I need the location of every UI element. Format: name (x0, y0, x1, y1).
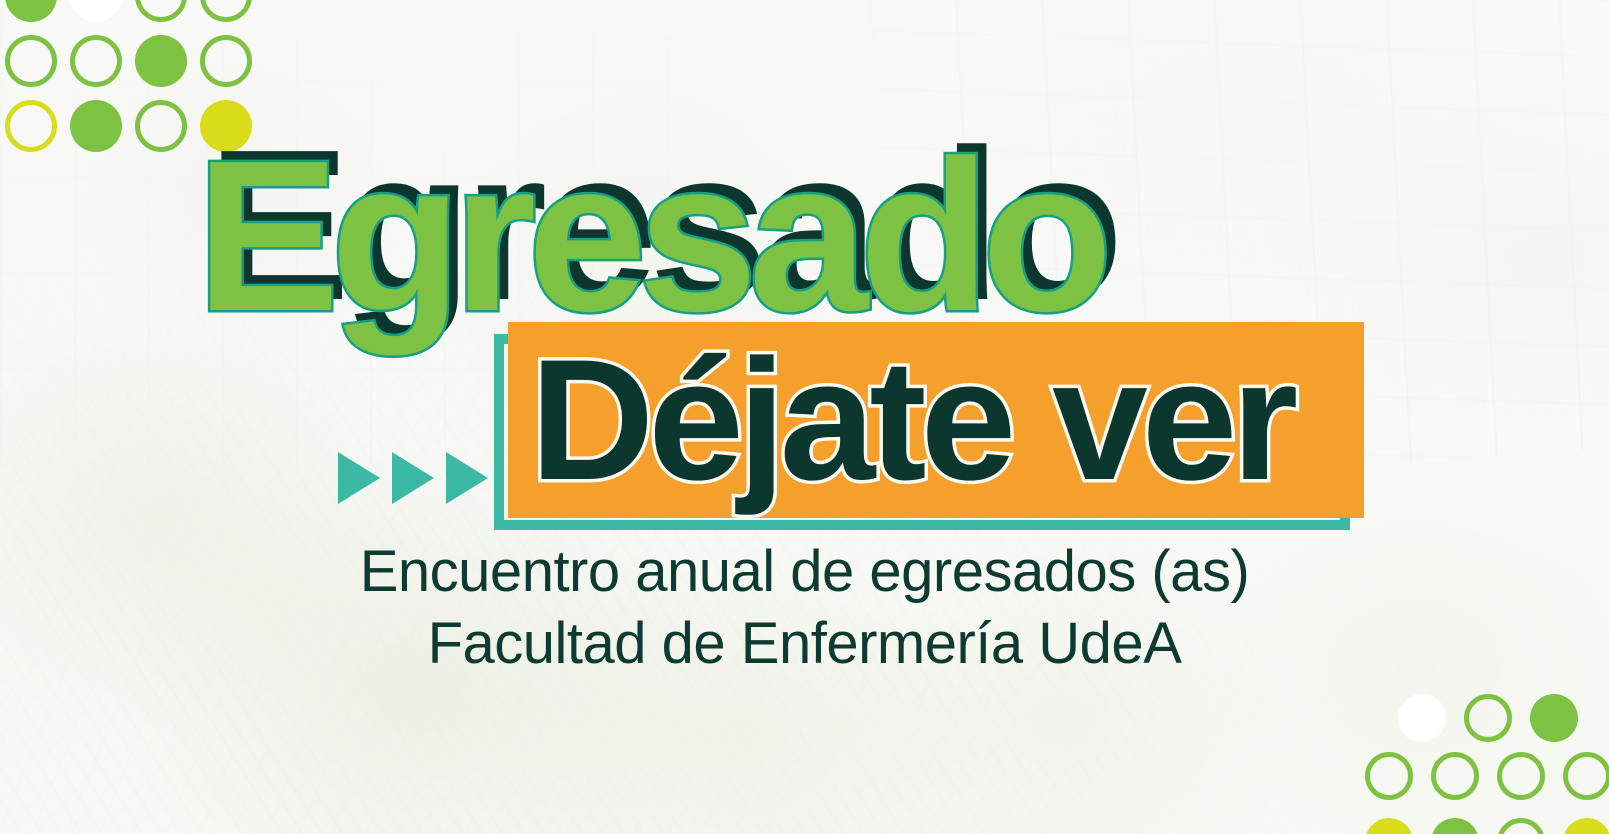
circle-outline-icon (1464, 694, 1512, 742)
circle-filled-icon (135, 35, 187, 87)
circle-outline-icon (1365, 752, 1413, 800)
circle-outline-icon (200, 35, 252, 87)
headline-dejate-ver-text: Déjate ver (530, 334, 1292, 506)
circle-filled-icon (1431, 818, 1479, 834)
triangle-right-icon (392, 452, 434, 504)
circle-outline-icon (1431, 752, 1479, 800)
subtitle-line-1: Encuentro anual de egresados (as) (0, 536, 1609, 608)
circle-filled-icon (1563, 818, 1609, 834)
circle-outline-icon (5, 35, 57, 87)
arrow-group (338, 452, 488, 504)
circle-outline-icon (1497, 752, 1545, 800)
triangle-right-icon (446, 452, 488, 504)
circle-outline-icon (1563, 752, 1609, 800)
circle-outline-icon (70, 35, 122, 87)
circle-outline-icon (200, 0, 252, 22)
triangle-right-icon (338, 452, 380, 504)
poster-canvas: Egresado Egresado Egresado Déjate ver En… (0, 0, 1609, 834)
subtitle-line-2: Facultad de Enfermería UdeA (0, 608, 1609, 680)
circle-filled-icon (70, 0, 122, 22)
circle-filled-icon (1530, 694, 1578, 742)
circle-outline-icon (1497, 818, 1545, 834)
circle-outline-icon (135, 100, 187, 152)
circle-outline-icon (135, 0, 187, 22)
circle-filled-icon (1398, 694, 1446, 742)
banner-text-wrap: Déjate ver (530, 320, 1410, 520)
circle-filled-icon (70, 100, 122, 152)
circle-grid-icon-bottom-right (1398, 694, 1609, 834)
headline-egresado-text: Egresado (196, 128, 1104, 343)
subtitle-block: Encuentro anual de egresados (as) Facult… (0, 536, 1609, 680)
circle-filled-icon (5, 0, 57, 22)
circle-outline-icon (5, 100, 57, 152)
